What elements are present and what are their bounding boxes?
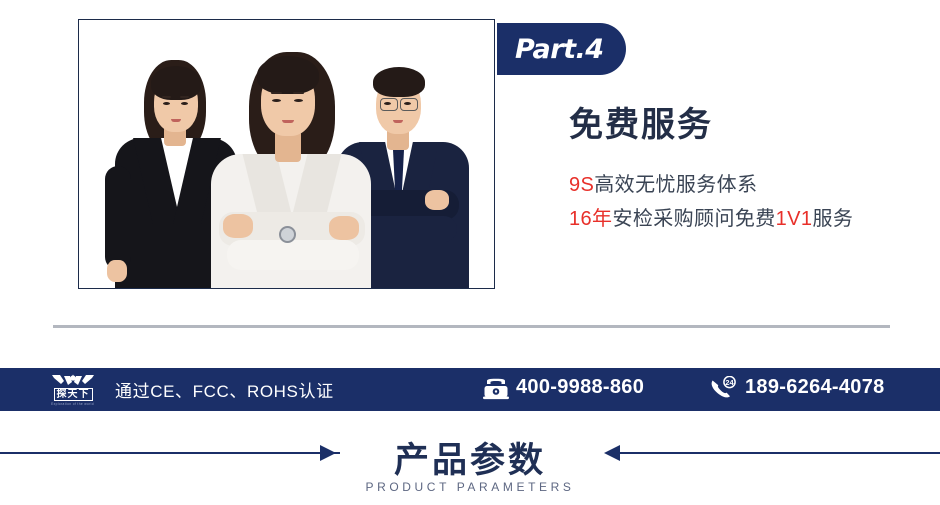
section-headline: 免费服务 (569, 108, 713, 142)
logo-tagline: Exploration of the world (52, 402, 95, 406)
sub-line-1-highlight: 9S (569, 174, 594, 196)
phone-secondary[interactable]: 189-6264-4078 (745, 376, 885, 399)
section-subtext: 9S高效无忧服务体系 16年安检采购顾问免费1V1服务 (569, 168, 853, 236)
handset-24h-icon: 24 (709, 376, 737, 400)
team-photo (78, 19, 495, 289)
phone-primary[interactable]: 400-9988-860 (516, 376, 644, 399)
person-center (201, 26, 381, 288)
logo-name: 探天下 (54, 388, 93, 401)
bottom-section-title: 产品参数 (0, 432, 940, 483)
desk-phone-icon (483, 378, 509, 400)
section-divider (53, 325, 890, 328)
sub-line-2-tail: 服务 (812, 208, 853, 230)
part-badge-label: Part.4 (515, 34, 604, 65)
part-badge: Part.4 (497, 23, 626, 75)
bottom-section-subtitle: PRODUCT PARAMETERS (0, 480, 940, 494)
sub-line-1-rest: 高效无忧服务体系 (594, 174, 757, 196)
product-detail-page: Part.4 免费服务 9S高效无忧服务体系 16年安检采购顾问免费1V1服务 … (0, 0, 940, 505)
wing-emblem-icon (50, 373, 96, 387)
svg-text:24: 24 (725, 378, 734, 387)
sub-line-2-rest: 安检采购顾问免费 (612, 208, 775, 230)
sub-line-2-highlight-b: 1V1 (776, 208, 813, 230)
sub-line-2: 16年安检采购顾问免费1V1服务 (569, 202, 853, 236)
certification-text: 通过CE、FCC、ROHS认证 (115, 377, 334, 402)
sub-line-2-highlight-a: 16年 (569, 208, 612, 230)
company-logo: 探天下 Exploration of the world (44, 371, 102, 408)
sub-line-1: 9S高效无忧服务体系 (569, 168, 853, 202)
wristwatch-icon (279, 226, 296, 243)
photo-canvas (79, 20, 494, 288)
